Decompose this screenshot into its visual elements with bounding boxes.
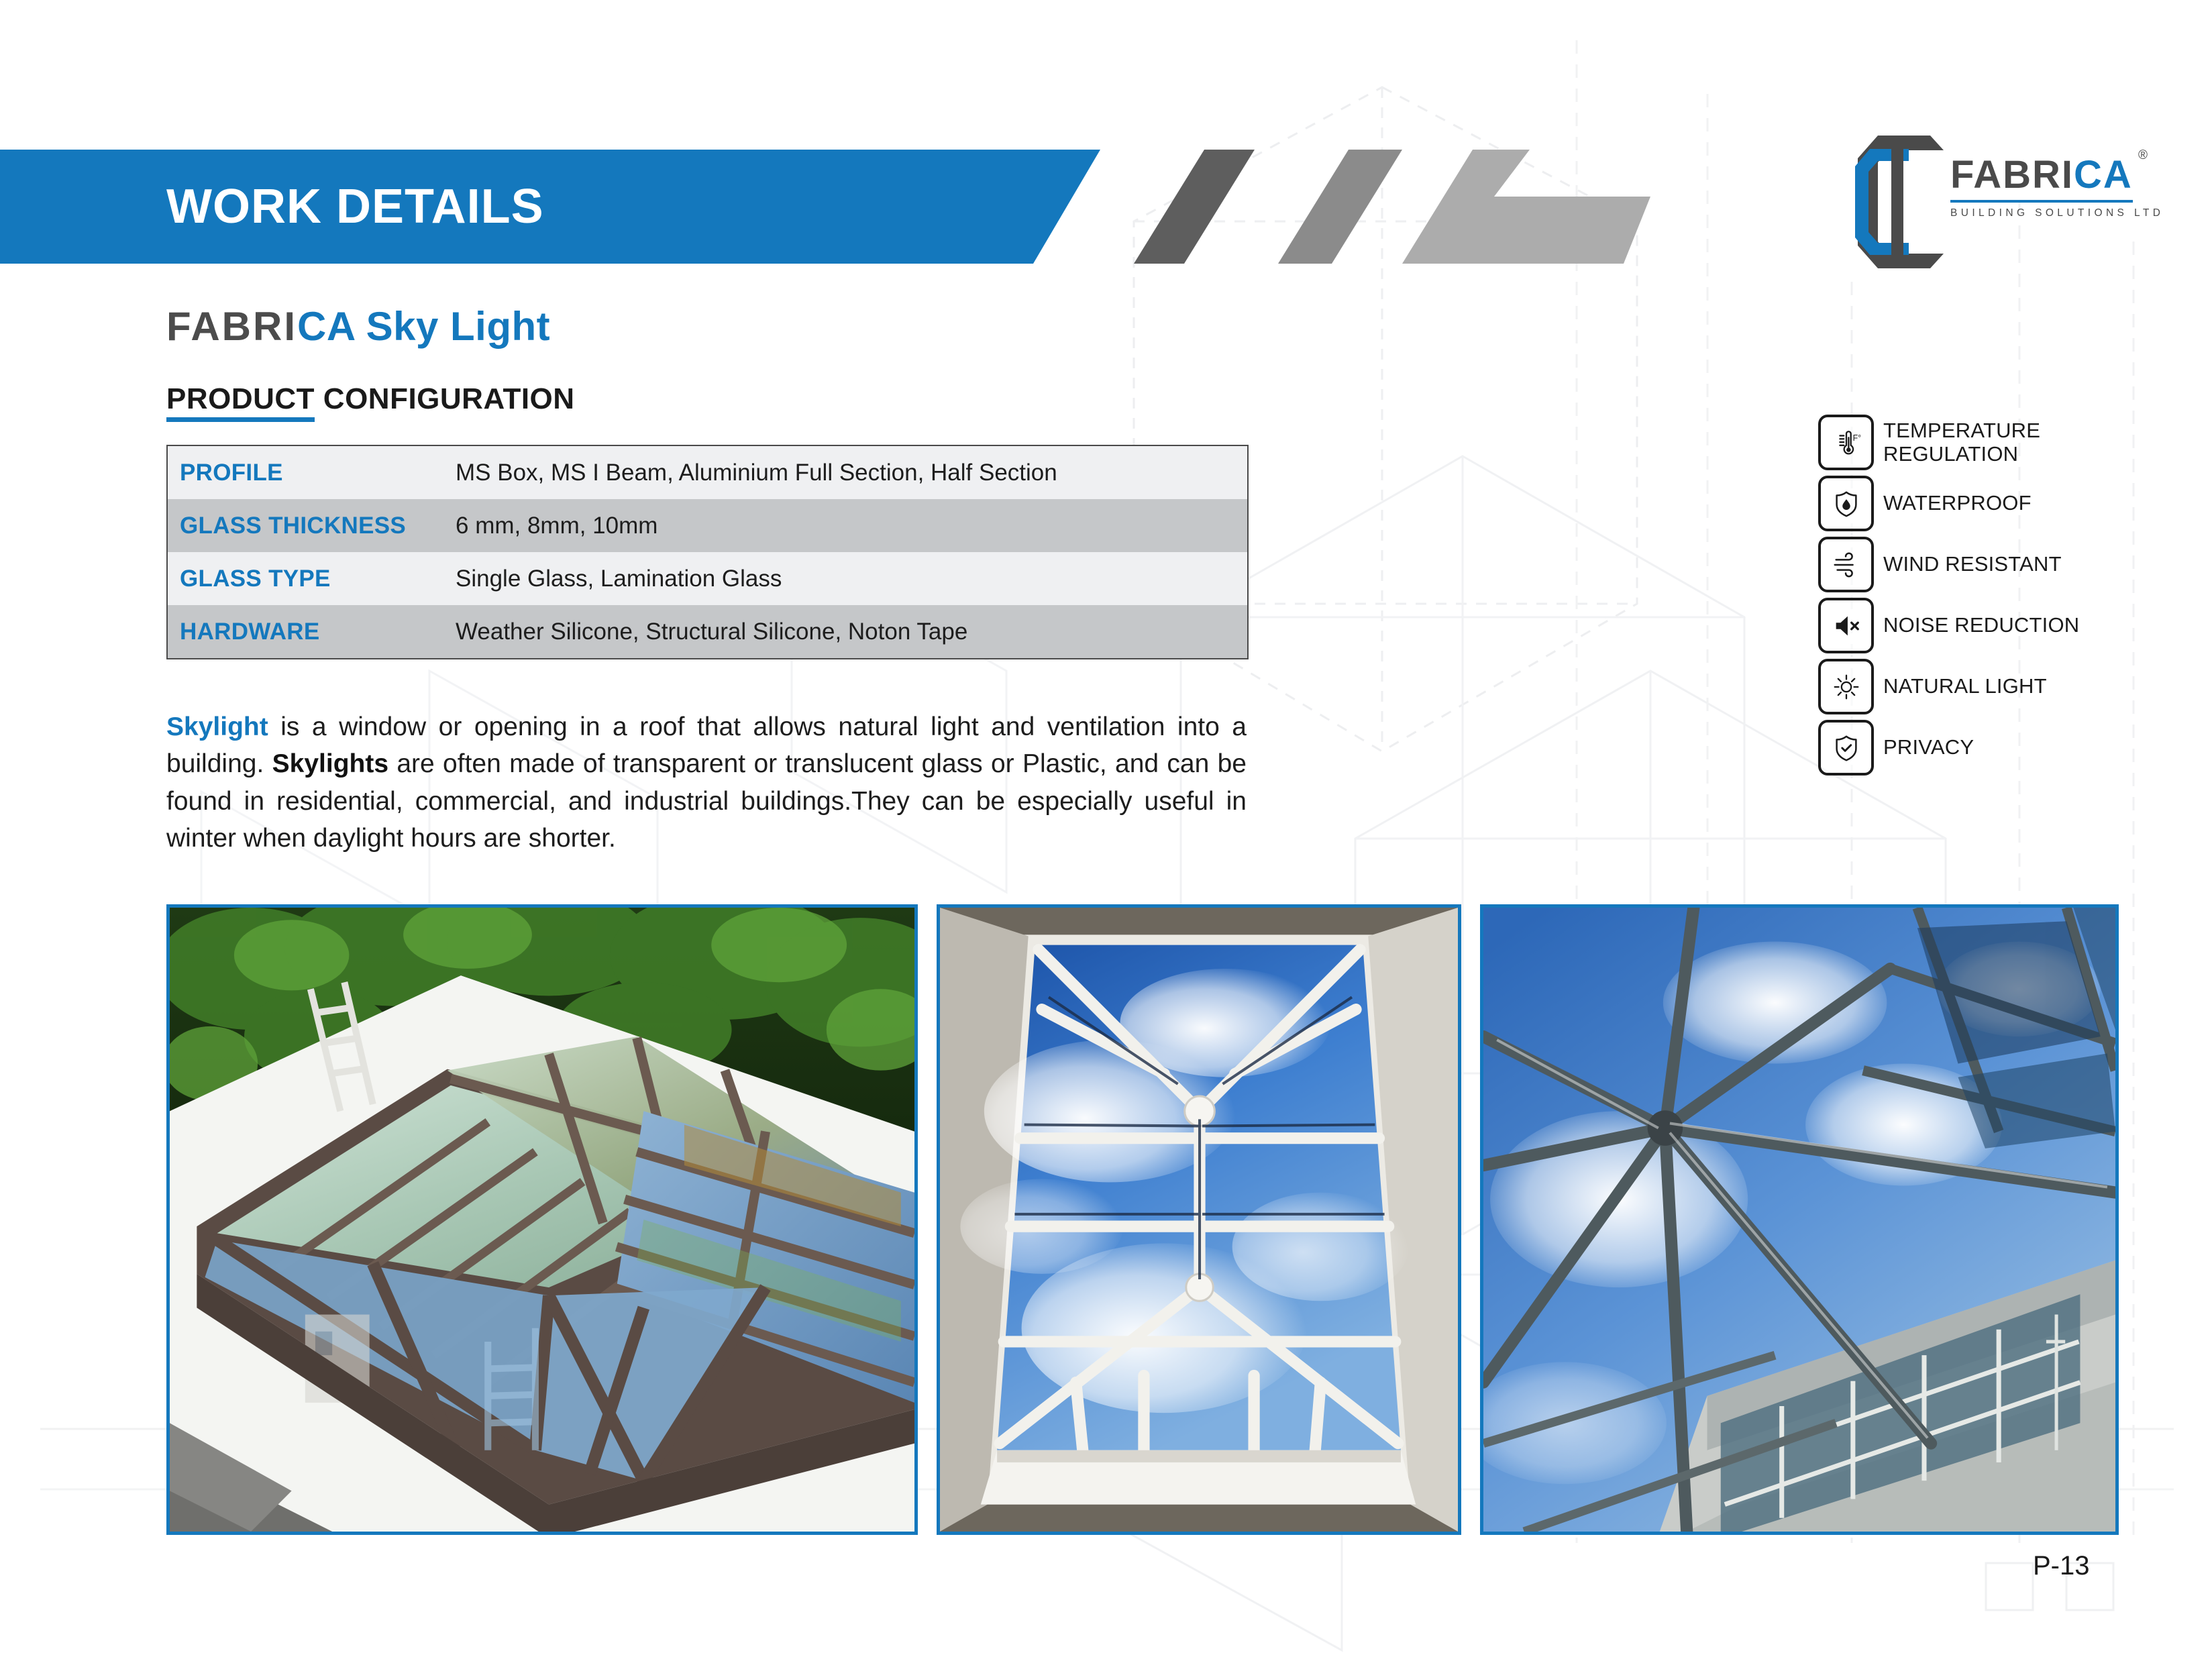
- subtitle-brand: FABRI: [166, 304, 297, 349]
- sun-icon: [1818, 659, 1874, 714]
- table-row: PROFILE MS Box, MS I Beam, Aluminium Ful…: [167, 445, 1248, 499]
- product-configuration-table: PROFILE MS Box, MS I Beam, Aluminium Ful…: [166, 445, 1249, 659]
- wind-icon: [1818, 537, 1874, 592]
- thermometer-icon: F°: [1818, 415, 1874, 470]
- description-lead: Skylight: [166, 712, 268, 741]
- header-stripe-dark: [1134, 150, 1255, 264]
- feature-item-wind-resistant: WIND RESISTANT: [1818, 539, 2194, 590]
- feature-label-line1: WIND RESISTANT: [1883, 553, 2062, 576]
- product-description: Skylight is a window or opening in a roo…: [166, 708, 1247, 857]
- config-key: PROFILE: [167, 445, 443, 499]
- page-number: P-13: [2033, 1551, 2090, 1581]
- feature-label: PRIVACY: [1883, 736, 1974, 759]
- feature-item-waterproof: WATERPROOF: [1818, 478, 2194, 529]
- feature-label-line1: NATURAL LIGHT: [1883, 675, 2047, 698]
- description-bold: Skylights: [272, 749, 388, 778]
- logo-tagline: BUILDING SOLUTIONS LTD: [1950, 207, 2133, 219]
- feature-item-natural-light: NATURAL LIGHT: [1818, 661, 2194, 712]
- feature-item-temperature-regulation: F° TEMPERATURE REGULATION: [1818, 417, 2194, 468]
- product-subtitle: FABRICA Sky Light: [166, 303, 550, 350]
- feature-label: NATURAL LIGHT: [1883, 675, 2047, 698]
- feature-item-noise-reduction: NOISE REDUCTION: [1818, 600, 2194, 651]
- fabrica-logo: FABRICA® BUILDING SOLUTIONS LTD: [1851, 131, 2133, 272]
- logo-bracket-icon: [1851, 131, 1952, 272]
- subtitle-product: CA Sky Light: [297, 304, 550, 349]
- feature-label: WIND RESISTANT: [1883, 553, 2062, 576]
- logo-word-blue: CA: [2074, 153, 2133, 197]
- header-stripe-medium: [1278, 150, 1402, 264]
- section-heading: PRODUCT CONFIGURATION: [166, 382, 575, 416]
- feature-item-privacy: PRIVACY: [1818, 723, 2194, 773]
- feature-label: NOISE REDUCTION: [1883, 614, 2079, 637]
- config-value: Single Glass, Lamination Glass: [443, 552, 1248, 605]
- photo-lantern-skylight-interior[interactable]: [937, 904, 1461, 1535]
- config-value: MS Box, MS I Beam, Aluminium Full Sectio…: [443, 445, 1248, 499]
- section-heading-rest: CONFIGURATION: [315, 382, 575, 415]
- table-row: HARDWARE Weather Silicone, Structural Si…: [167, 605, 1248, 659]
- page-title: WORK DETAILS: [166, 179, 544, 234]
- config-value: 6 mm, 8mm, 10mm: [443, 499, 1248, 552]
- config-key: GLASS THICKNESS: [167, 499, 443, 552]
- config-key: GLASS TYPE: [167, 552, 443, 605]
- feature-label-line1: NOISE REDUCTION: [1883, 614, 2079, 637]
- feature-label-line1: PRIVACY: [1883, 736, 1974, 759]
- table-row: GLASS THICKNESS 6 mm, 8mm, 10mm: [167, 499, 1248, 552]
- header-stripe-light: [1402, 150, 1650, 264]
- svg-text:F°: F°: [1852, 433, 1861, 443]
- shield-droplet-icon: [1818, 476, 1874, 531]
- speaker-mute-icon: [1818, 598, 1874, 653]
- config-key: HARDWARE: [167, 605, 443, 659]
- logo-divider: [1950, 200, 2133, 203]
- logo-word-dark: FABRI: [1950, 153, 2074, 197]
- header-banner: [0, 150, 1100, 264]
- photo-pyramid-skylight-exterior[interactable]: [166, 904, 918, 1535]
- config-value: Weather Silicone, Structural Silicone, N…: [443, 605, 1248, 659]
- feature-list: F° TEMPERATURE REGULATION WATERPROOF: [1818, 417, 2194, 784]
- feature-label-line1: WATERPROOF: [1883, 492, 2032, 515]
- section-heading-underlined: PRODUCT: [166, 382, 315, 422]
- table-row: GLASS TYPE Single Glass, Lamination Glas…: [167, 552, 1248, 605]
- trademark-symbol: ®: [2138, 149, 2148, 162]
- feature-label-line1: TEMPERATURE: [1883, 419, 2040, 443]
- feature-label-line2: REGULATION: [1883, 443, 2040, 466]
- shield-check-icon: [1818, 720, 1874, 776]
- photo-atrium-glass-roof[interactable]: [1480, 904, 2119, 1535]
- feature-label: WATERPROOF: [1883, 492, 2032, 515]
- feature-label: TEMPERATURE REGULATION: [1883, 419, 2040, 466]
